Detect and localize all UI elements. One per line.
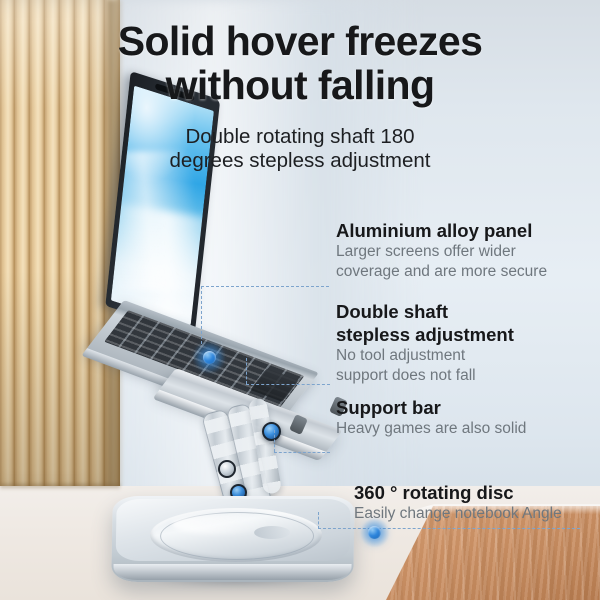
callout-aluminium-alloy-panel: Aluminium alloy panel Larger screens off… (336, 219, 547, 282)
connector-line-shaft-horizontal (246, 384, 330, 385)
callout-3-title: Support bar (336, 396, 526, 419)
page-title-line-1: Solid hover freezes (0, 18, 600, 64)
hinge-pivot-white (218, 460, 236, 478)
callout-360-rotating-disc: 360 ° rotating disc Easily change notebo… (354, 481, 562, 524)
connector-line-supportbar-horizontal (274, 452, 330, 453)
page-title-line-2: without falling (0, 62, 600, 108)
connector-line-disc-horizontal (318, 528, 580, 529)
callout-4-desc-line-1: Easily change notebook Angle (354, 504, 562, 524)
callout-double-shaft-stepless-adjustment: Double shaft stepless adjustment No tool… (336, 300, 514, 386)
connector-line-disc-vertical (318, 512, 319, 529)
subtitle-line-1: Double rotating shaft 180 (0, 124, 600, 150)
callout-1-desc-line-2: coverage and are more secure (336, 262, 547, 282)
callout-2-title-line-2: stepless adjustment (336, 323, 514, 346)
marker-dot-panel (203, 351, 216, 364)
connector-line-panel-horizontal (201, 286, 329, 287)
callout-1-desc-line-1: Larger screens offer wider (336, 242, 547, 262)
connector-line-shaft-vertical (246, 358, 247, 384)
product-marketing-image: Solid hover freezes without falling Doub… (0, 0, 600, 600)
subtitle-line-2: degrees stepless adjustment (0, 148, 600, 174)
callout-2-desc-line-2: support does not fall (336, 366, 514, 386)
rotating-base-plate (111, 496, 355, 582)
callout-2-title-line-1: Double shaft (336, 300, 514, 323)
connector-line-panel-vertical (201, 286, 202, 344)
callout-1-title: Aluminium alloy panel (336, 219, 547, 242)
rotating-disc-emblem (254, 526, 290, 539)
callout-3-desc-line-1: Heavy games are also solid (336, 419, 526, 439)
laptop-lid (105, 71, 220, 334)
callout-support-bar: Support bar Heavy games are also solid (336, 396, 526, 439)
base-plate-side (113, 564, 351, 580)
callout-4-title: 360 ° rotating disc (354, 481, 562, 504)
callout-2-desc-line-1: No tool adjustment (336, 346, 514, 366)
laptop-screen (111, 86, 214, 326)
connector-line-supportbar-vertical (274, 430, 275, 452)
hinge-knob-upper (262, 422, 281, 441)
marker-dot-disc (368, 526, 381, 539)
